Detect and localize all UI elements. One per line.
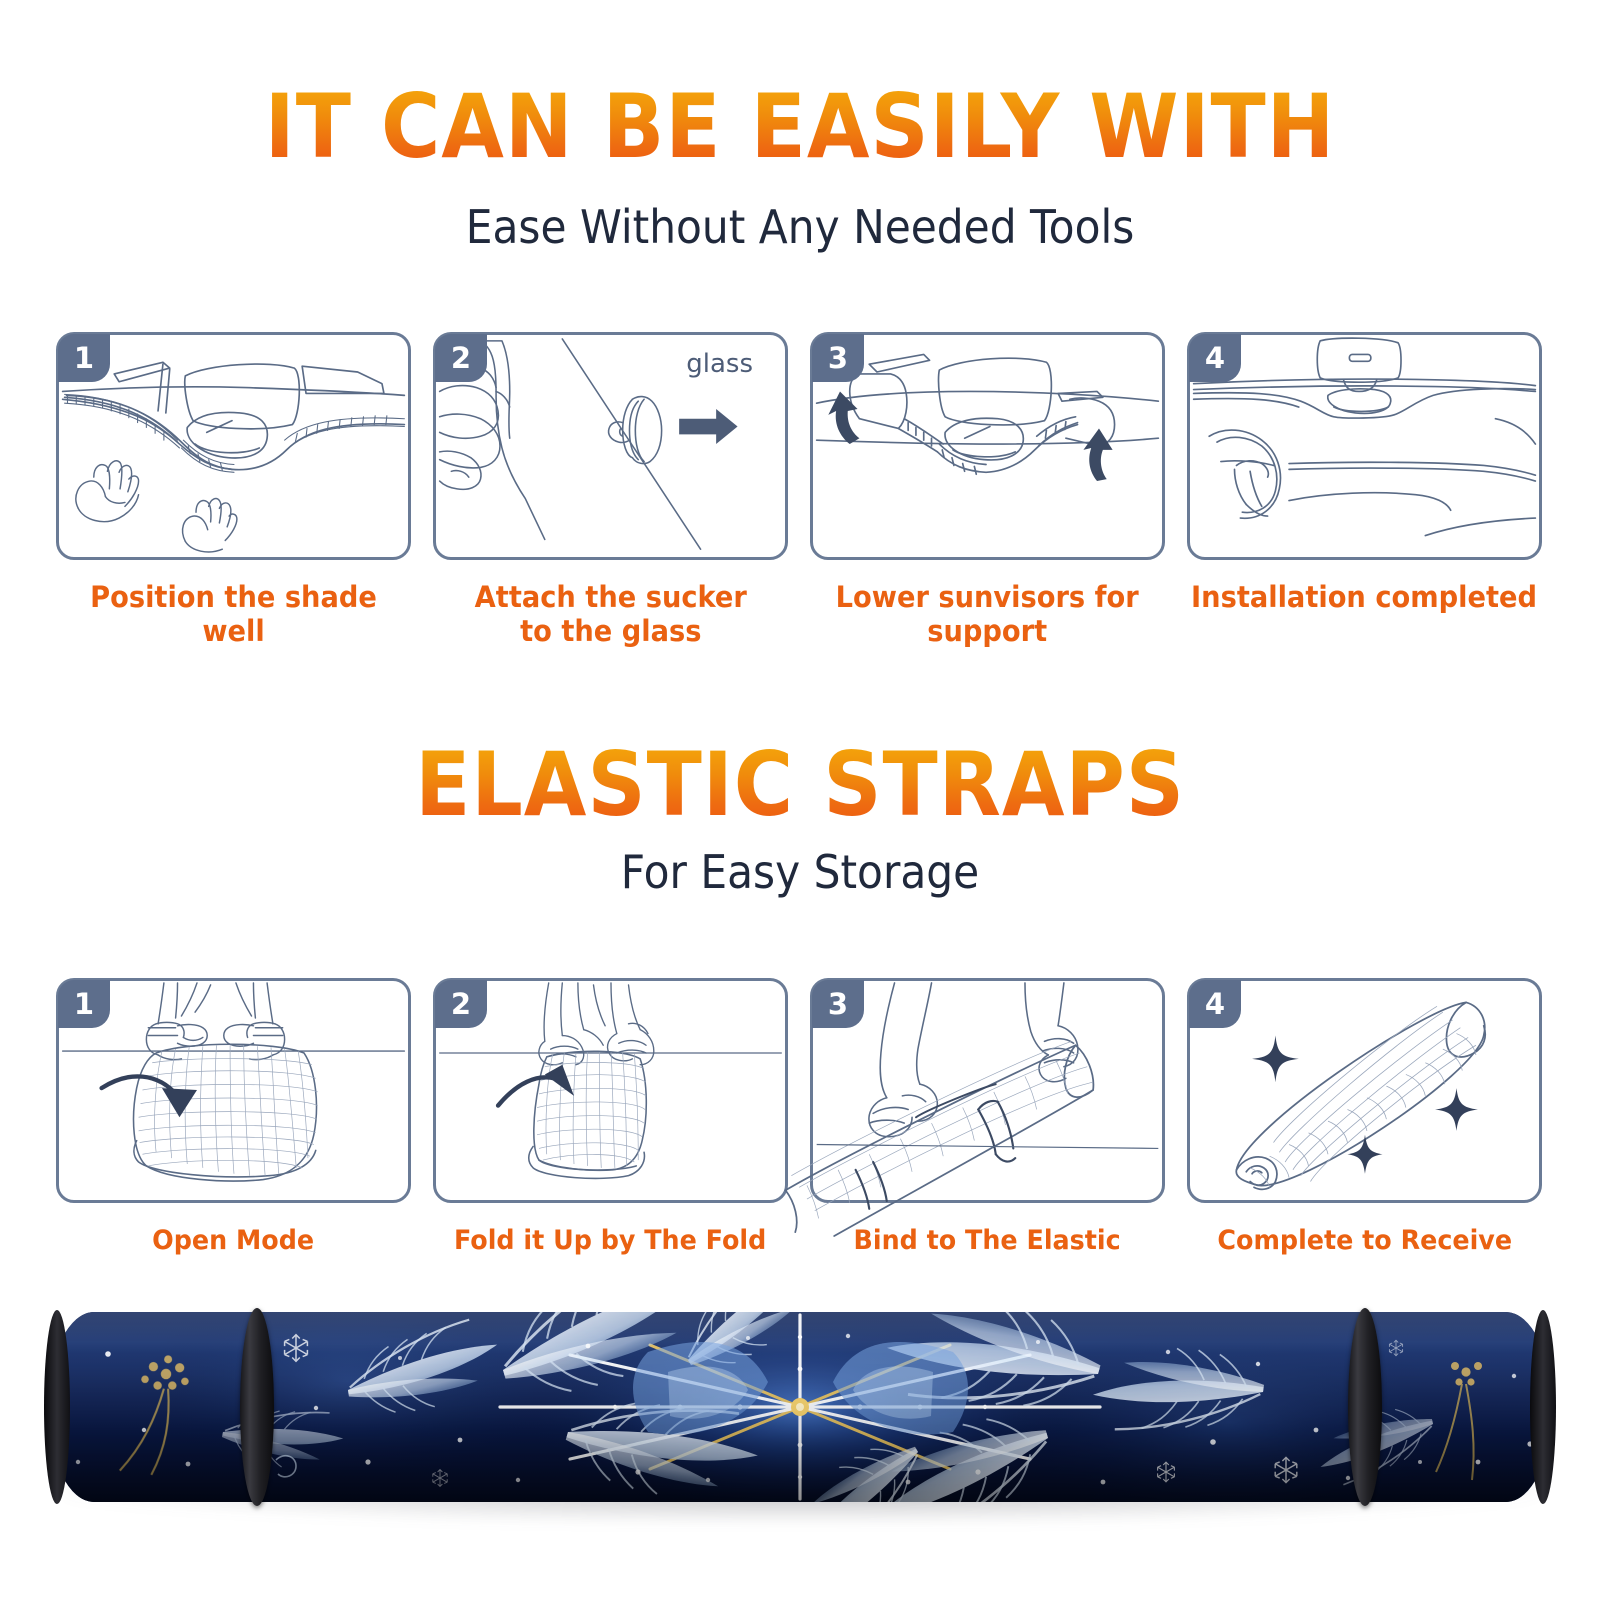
roll-end-cap-left [44, 1310, 70, 1504]
sunvisors-lowering-arrows-icon [813, 335, 1162, 557]
storage-step-2-card[interactable]: 2 [433, 978, 788, 1203]
storage-step-1[interactable]: 1 Open Mode [45, 978, 422, 1257]
storage-step-3-caption: Bind to The Elastic [854, 1225, 1121, 1257]
storage-step-1-caption: Open Mode [153, 1225, 315, 1257]
storage-step-2-caption: Fold it Up by The Fold [454, 1225, 766, 1257]
install-step-2-caption: Attach the sucker to the glass [474, 580, 746, 648]
install-step-4-card[interactable]: 4 [1187, 332, 1542, 560]
storage-step-3-card[interactable]: 3 [810, 978, 1165, 1203]
step-badge: 3 [812, 334, 864, 382]
step-badge: 2 [435, 980, 487, 1028]
product-photo [48, 1312, 1552, 1527]
install-step-3-card[interactable]: 3 [810, 332, 1165, 560]
step-badge: 2 [435, 334, 487, 382]
step-badge: 1 [58, 334, 110, 382]
storage-step-4-caption: Complete to Receive [1217, 1225, 1512, 1257]
hands-holding-open-mat-icon [59, 981, 408, 1200]
section-title-install: IT CAN BE EASILY WITH [64, 82, 1536, 172]
rolled-mat-with-sparkles-icon [1190, 981, 1539, 1200]
step-badge: 3 [812, 980, 864, 1028]
windshield-shade-with-hands-icon [59, 335, 408, 557]
installed-shade-interior-icon [1190, 335, 1539, 557]
hands-binding-rolled-mat-icon [813, 981, 1162, 1200]
install-step-2-card[interactable]: glass 2 [433, 332, 788, 560]
storage-step-3[interactable]: 3 Bind to The Elastic [799, 978, 1176, 1257]
step-badge: 1 [58, 980, 110, 1028]
section-subtitle-storage: For Easy Storage [64, 845, 1536, 899]
elastic-strap-left [240, 1308, 274, 1506]
install-step-3[interactable]: 3 Lower sunvisors for support [799, 332, 1176, 648]
install-step-4-caption: Installation completed [1192, 580, 1538, 614]
glass-annotation-label: glass [686, 349, 753, 379]
storage-step-4-card[interactable]: 4 [1187, 978, 1542, 1203]
install-step-4[interactable]: 4 Installation completed [1176, 332, 1553, 648]
install-step-1-caption: Position the shade well [56, 580, 410, 648]
storage-step-4[interactable]: 4 Complete to Receive [1176, 978, 1553, 1257]
install-step-3-caption: Lower sunvisors for support [836, 580, 1139, 648]
install-steps-row: 1 Position the shade well [45, 332, 1555, 648]
storage-step-1-card[interactable]: 1 [56, 978, 411, 1203]
storage-step-2[interactable]: 2 Fold it Up by The Fold [422, 978, 799, 1257]
storage-steps-row: 1 Open Mode [45, 978, 1555, 1257]
install-step-1[interactable]: 1 Position the shade well [45, 332, 422, 648]
step-badge: 4 [1189, 334, 1241, 382]
section-title-storage: ELASTIC STRAPS [64, 740, 1536, 830]
roll-end-cap-right [1530, 1310, 1556, 1504]
section-subtitle-install: Ease Without Any Needed Tools [64, 200, 1536, 254]
install-step-1-card[interactable]: 1 [56, 332, 411, 560]
hands-folding-mat-icon [436, 981, 785, 1200]
step-badge: 4 [1189, 980, 1241, 1028]
install-step-2[interactable]: glass 2 Attach the sucker to the glass [422, 332, 799, 648]
elastic-strap-right [1348, 1308, 1382, 1506]
